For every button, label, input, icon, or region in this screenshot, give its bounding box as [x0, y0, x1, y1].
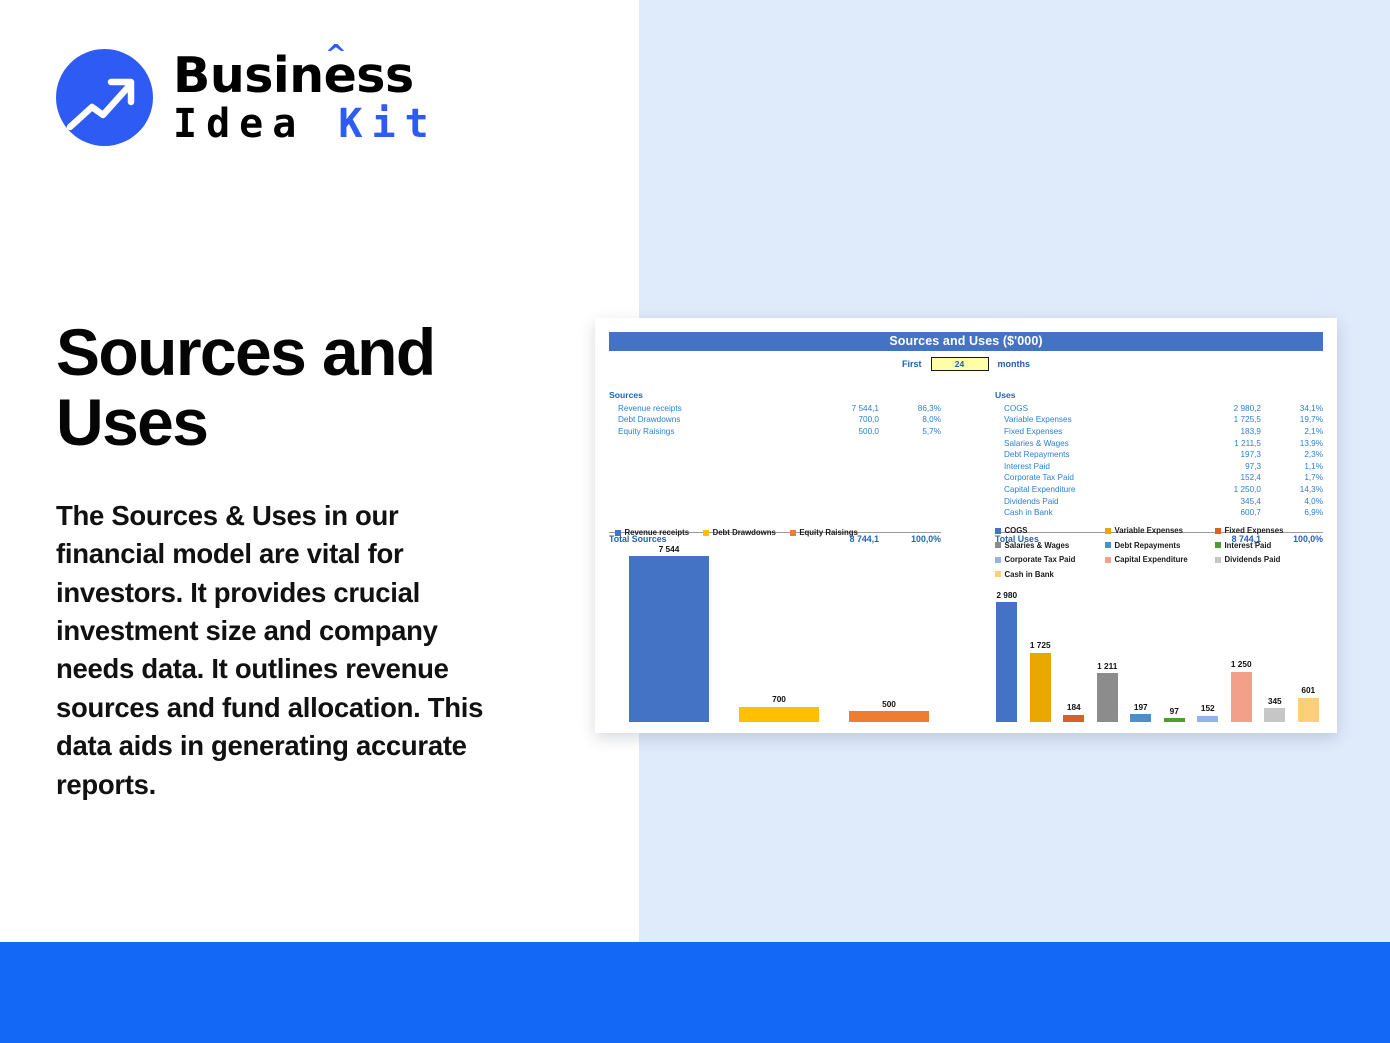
- table-row: Corporate Tax Paid152,41,7%: [995, 472, 1323, 484]
- legend-swatch-icon: [995, 571, 1001, 577]
- bar[interactable]: [996, 602, 1017, 722]
- legend-swatch-icon: [703, 530, 709, 536]
- bar-value-label: 700: [772, 694, 786, 704]
- bar-value-label: 197: [1134, 702, 1148, 712]
- bar-value-label: 184: [1067, 702, 1081, 712]
- uses-row-value: 1 250,0: [1177, 485, 1261, 494]
- sources-row-value: 500,0: [795, 427, 879, 436]
- uses-row-name: Fixed Expenses: [995, 427, 1177, 436]
- table-row: COGS2 980,234,1%: [995, 403, 1323, 415]
- legend-item[interactable]: COGS: [995, 526, 1105, 535]
- legend-label: Fixed Expenses: [1225, 526, 1284, 535]
- sources-bar-chart: 7 544700500: [614, 537, 944, 722]
- legend-label: Revenue receipts: [625, 528, 690, 537]
- sources-row-value: 700,0: [795, 415, 879, 424]
- bar-item: 500: [834, 537, 944, 722]
- footer-bar: [0, 942, 1390, 1043]
- uses-row-name: Cash in Bank: [995, 508, 1177, 517]
- bar[interactable]: [739, 707, 819, 722]
- table-row: Fixed Expenses183,92,1%: [995, 426, 1323, 438]
- legend-swatch-icon: [1105, 557, 1111, 563]
- bar-item: 345: [1258, 582, 1292, 722]
- uses-bar-group: 2 9801 7251841 211197971521 250345601: [990, 582, 1325, 722]
- sources-and-uses-card: Sources and Uses ($'000) First 24 months…: [595, 318, 1337, 733]
- uses-table: Uses COGS2 980,234,1%Variable Expenses1 …: [995, 390, 1323, 518]
- legend-swatch-icon: [995, 557, 1001, 563]
- legend-item[interactable]: Capital Expenditure: [1105, 555, 1215, 564]
- hero-description: The Sources & Uses in our financial mode…: [56, 497, 504, 804]
- sources-table-header: Sources: [609, 390, 941, 400]
- uses-row-value: 1 725,5: [1177, 415, 1261, 424]
- bar-item: 152: [1191, 582, 1225, 722]
- legend-item[interactable]: Dividends Paid: [1215, 555, 1325, 564]
- legend-item[interactable]: Debt Repayments: [1105, 541, 1215, 550]
- bar-value-label: 2 980: [996, 590, 1017, 600]
- bar-value-label: 7 544: [659, 544, 680, 554]
- legend-label: Debt Repayments: [1115, 541, 1181, 550]
- table-row: Salaries & Wages1 211,513,9%: [995, 437, 1323, 449]
- legend-label: Cash in Bank: [1005, 570, 1054, 579]
- table-row: Equity Raisings500,05,7%: [609, 426, 941, 438]
- sheet-title: Sources and Uses ($'000): [609, 332, 1323, 351]
- bar[interactable]: [1097, 673, 1118, 722]
- uses-row-percent: 6,9%: [1261, 508, 1323, 517]
- bar-value-label: 500: [882, 699, 896, 709]
- legend-swatch-icon: [1215, 557, 1221, 563]
- sources-row-percent: 86,3%: [879, 404, 941, 413]
- legend-item[interactable]: Interest Paid: [1215, 541, 1325, 550]
- bar-item: 1 211: [1091, 582, 1125, 722]
- legend-label: Interest Paid: [1225, 541, 1272, 550]
- legend-item[interactable]: Equity Raisings: [790, 528, 858, 537]
- uses-row-percent: 14,3%: [1261, 485, 1323, 494]
- uses-bar-chart: 2 9801 7251841 211197971521 250345601: [990, 582, 1325, 722]
- table-row: Interest Paid97,31,1%: [995, 460, 1323, 472]
- legend-swatch-icon: [995, 542, 1001, 548]
- bar-value-label: 1 211: [1097, 661, 1117, 671]
- bar[interactable]: [629, 556, 709, 722]
- uses-row-value: 345,4: [1177, 497, 1261, 506]
- legend-label: Corporate Tax Paid: [1005, 555, 1076, 564]
- brand-name-line2: Idea Kit: [173, 104, 438, 144]
- sources-row-name: Equity Raisings: [609, 427, 795, 436]
- uses-row-percent: 4,0%: [1261, 497, 1323, 506]
- table-row: Debt Drawdowns700,08,0%: [609, 414, 941, 426]
- sources-bar-group: 7 544700500: [614, 537, 944, 722]
- uses-chart-legend: COGSVariable ExpensesFixed ExpensesSalar…: [995, 526, 1325, 579]
- period-suffix-label: months: [998, 359, 1031, 369]
- period-months-input[interactable]: 24: [931, 357, 989, 371]
- bar-item: 184: [1057, 582, 1091, 722]
- page-title: Sources and Uses: [56, 318, 576, 458]
- bar[interactable]: [1231, 672, 1252, 722]
- brand-name-kit: Kit: [338, 101, 437, 147]
- bar-item: 601: [1292, 582, 1326, 722]
- sources-chart-legend: Revenue receiptsDebt DrawdownsEquity Rai…: [615, 528, 945, 537]
- brand-name-line1: Business ^: [173, 51, 438, 100]
- legend-label: Dividends Paid: [1225, 555, 1281, 564]
- sources-row-percent: 5,7%: [879, 427, 941, 436]
- legend-swatch-icon: [790, 530, 796, 536]
- period-selector-row: First 24 months: [595, 357, 1337, 371]
- uses-table-header: Uses: [995, 390, 1323, 400]
- uses-row-name: Interest Paid: [995, 462, 1177, 471]
- uses-row-value: 197,3: [1177, 450, 1261, 459]
- uses-row-name: COGS: [995, 404, 1177, 413]
- brand-logo: Business ^ Idea Kit: [56, 49, 438, 146]
- period-prefix-label: First: [902, 359, 922, 369]
- sources-row-name: Revenue receipts: [609, 404, 795, 413]
- legend-label: Debt Drawdowns: [713, 528, 776, 537]
- table-row: Cash in Bank600,76,9%: [995, 507, 1323, 519]
- bar-value-label: 1 725: [1030, 640, 1051, 650]
- uses-row-percent: 19,7%: [1261, 415, 1323, 424]
- uses-row-value: 152,4: [1177, 473, 1261, 482]
- uses-row-name: Variable Expenses: [995, 415, 1177, 424]
- sources-row-percent: 8,0%: [879, 415, 941, 424]
- bar-item: 97: [1158, 582, 1192, 722]
- uses-row-value: 600,7: [1177, 508, 1261, 517]
- brand-name-line1-text: Business: [173, 47, 414, 104]
- bar-value-label: 152: [1201, 703, 1215, 713]
- uses-row-name: Debt Repayments: [995, 450, 1177, 459]
- sources-row-list: Revenue receipts7 544,186,3%Debt Drawdow…: [609, 403, 941, 438]
- legend-swatch-icon: [615, 530, 621, 536]
- bar[interactable]: [1298, 698, 1319, 722]
- table-row: Capital Expenditure1 250,014,3%: [995, 484, 1323, 496]
- legend-swatch-icon: [1215, 528, 1221, 534]
- bar-item: 1 725: [1024, 582, 1058, 722]
- growth-arrow-circle-icon: [56, 49, 153, 146]
- sources-row-value: 7 544,1: [795, 404, 879, 413]
- bar-item: 7 544: [614, 537, 724, 722]
- sources-row-name: Debt Drawdowns: [609, 415, 795, 424]
- uses-row-list: COGS2 980,234,1%Variable Expenses1 725,5…: [995, 403, 1323, 519]
- uses-row-value: 183,9: [1177, 427, 1261, 436]
- uses-row-value: 2 980,2: [1177, 404, 1261, 413]
- legend-item[interactable]: Corporate Tax Paid: [995, 555, 1105, 564]
- table-row: Debt Repayments197,32,3%: [995, 449, 1323, 461]
- legend-item[interactable]: Cash in Bank: [995, 570, 1105, 579]
- legend-item[interactable]: Revenue receipts: [615, 528, 689, 537]
- bar[interactable]: [1164, 718, 1185, 722]
- uses-row-percent: 2,1%: [1261, 427, 1323, 436]
- bar-value-label: 97: [1170, 706, 1179, 716]
- legend-label: COGS: [1005, 526, 1028, 535]
- table-row: Variable Expenses1 725,519,7%: [995, 414, 1323, 426]
- uses-row-percent: 34,1%: [1261, 404, 1323, 413]
- legend-label: Equity Raisings: [799, 528, 858, 537]
- uses-row-name: Capital Expenditure: [995, 485, 1177, 494]
- uses-row-name: Dividends Paid: [995, 497, 1177, 506]
- legend-item[interactable]: Salaries & Wages: [995, 541, 1105, 550]
- table-row: Dividends Paid345,44,0%: [995, 495, 1323, 507]
- legend-item[interactable]: Variable Expenses: [1105, 526, 1215, 535]
- bar[interactable]: [1130, 714, 1151, 722]
- uses-row-value: 1 211,5: [1177, 439, 1261, 448]
- bar[interactable]: [1063, 715, 1084, 722]
- legend-label: Salaries & Wages: [1005, 541, 1070, 550]
- uses-row-percent: 1,1%: [1261, 462, 1323, 471]
- legend-swatch-icon: [1215, 542, 1221, 548]
- legend-item[interactable]: Fixed Expenses: [1215, 526, 1325, 535]
- legend-label: Variable Expenses: [1115, 526, 1183, 535]
- legend-label: Capital Expenditure: [1115, 555, 1188, 564]
- table-row: Revenue receipts7 544,186,3%: [609, 403, 941, 415]
- uses-row-name: Salaries & Wages: [995, 439, 1177, 448]
- bar-item: 700: [724, 537, 834, 722]
- bar-item: 1 250: [1225, 582, 1259, 722]
- legend-swatch-icon: [995, 528, 1001, 534]
- bar-item: 2 980: [990, 582, 1024, 722]
- bar-value-label: 601: [1301, 685, 1315, 695]
- bar[interactable]: [1030, 653, 1051, 722]
- bar-item: 197: [1124, 582, 1158, 722]
- bar-value-label: 1 250: [1231, 659, 1252, 669]
- bar[interactable]: [1264, 708, 1285, 722]
- uses-row-percent: 13,9%: [1261, 439, 1323, 448]
- legend-swatch-icon: [1105, 542, 1111, 548]
- brand-name-idea: Idea: [173, 101, 305, 147]
- sources-table: Sources Revenue receipts7 544,186,3%Debt…: [609, 390, 941, 437]
- uses-row-value: 97,3: [1177, 462, 1261, 471]
- uses-row-percent: 1,7%: [1261, 473, 1323, 482]
- brand-caret-accent: ^: [325, 42, 346, 68]
- bar[interactable]: [849, 711, 929, 722]
- bar[interactable]: [1197, 716, 1218, 722]
- legend-item[interactable]: Debt Drawdowns: [703, 528, 776, 537]
- bar-value-label: 345: [1268, 696, 1282, 706]
- uses-row-percent: 2,3%: [1261, 450, 1323, 459]
- uses-row-name: Corporate Tax Paid: [995, 473, 1177, 482]
- legend-swatch-icon: [1105, 528, 1111, 534]
